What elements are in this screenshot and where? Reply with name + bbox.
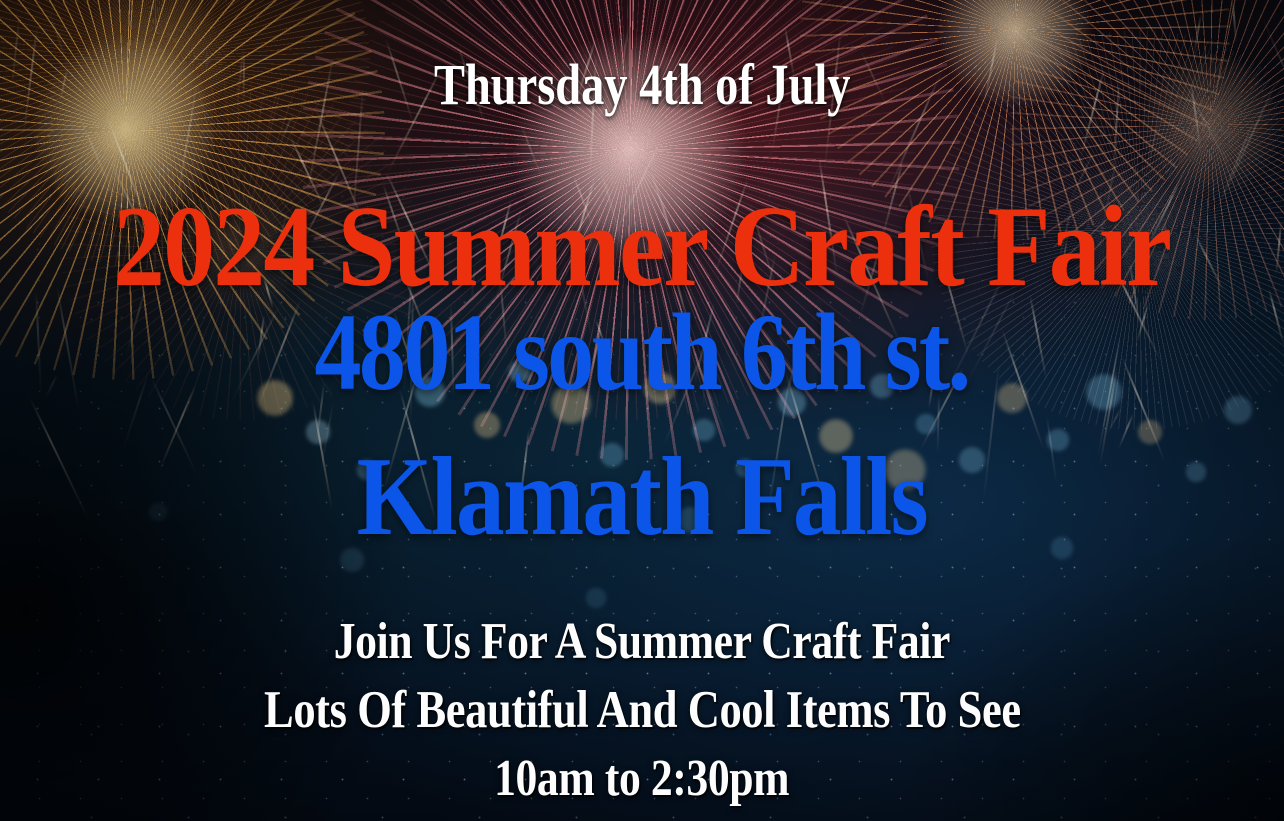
event-title-heading: 2024 Summer Craft Fair xyxy=(0,189,1284,305)
event-tagline-primary: Join Us For A Summer Craft Fair xyxy=(0,616,1284,668)
event-date-text: Thursday 4th of July xyxy=(434,56,850,114)
flyer-canvas: Thursday 4th of July 2024 Summer Craft F… xyxy=(0,0,1284,821)
event-city-text: Klamath Falls xyxy=(357,441,927,553)
flyer-text-content: Thursday 4th of July 2024 Summer Craft F… xyxy=(0,0,1284,821)
event-city-heading: Klamath Falls xyxy=(0,441,1284,553)
event-address-text: 4801 south 6th st. xyxy=(315,297,969,407)
event-tagline-primary-text: Join Us For A Summer Craft Fair xyxy=(334,616,950,668)
event-title-text: 2024 Summer Craft Fair xyxy=(113,189,1170,305)
event-hours: 10am to 2:30pm xyxy=(0,753,1284,805)
event-tagline-secondary: Lots Of Beautiful And Cool Items To See xyxy=(0,684,1284,737)
event-tagline-secondary-text: Lots Of Beautiful And Cool Items To See xyxy=(264,684,1021,737)
event-address-heading: 4801 south 6th st. xyxy=(0,297,1284,407)
event-date-heading: Thursday 4th of July xyxy=(0,56,1284,114)
event-hours-text: 10am to 2:30pm xyxy=(495,753,790,805)
